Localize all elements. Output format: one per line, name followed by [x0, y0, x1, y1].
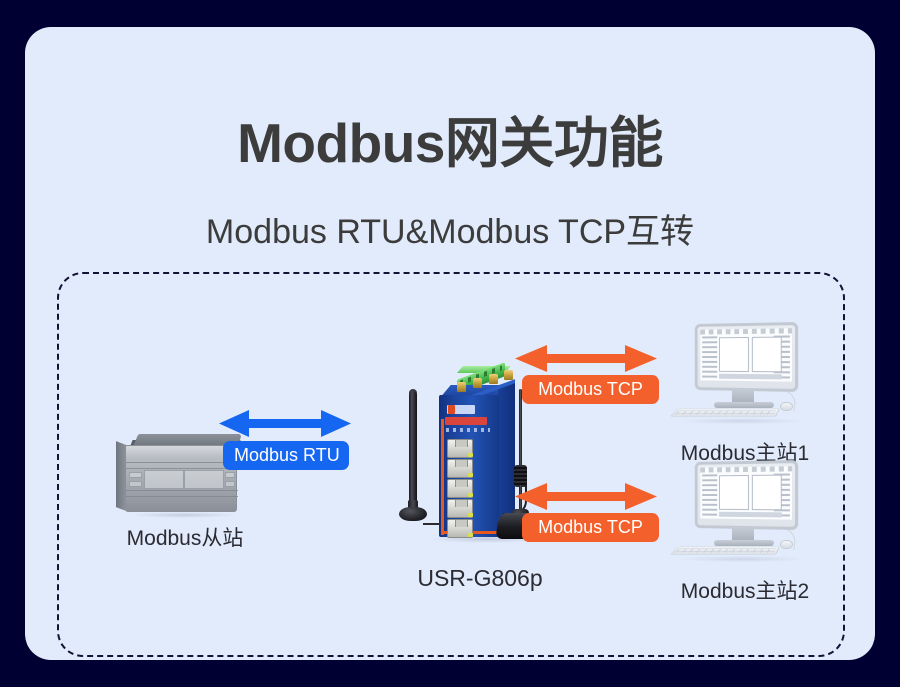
plc-front-face: [125, 445, 237, 512]
monitor-2-stand: [732, 527, 754, 541]
page-subtitle: Modbus RTU&Modbus TCP互转: [25, 204, 875, 253]
monitor-2-base: [714, 540, 774, 546]
right-antenna-rod: [519, 389, 522, 469]
monitor-1-base: [714, 402, 774, 408]
gateway-label: USR-G806p: [355, 565, 605, 592]
monitor-2-shadow: [680, 556, 804, 562]
keyboard-2: [670, 547, 780, 555]
router-led-row: [446, 428, 490, 432]
monitor-1-screen-content: [700, 328, 792, 381]
content-card: Modbus网关功能 Modbus RTU&Modbus TCP互转: [25, 27, 875, 660]
port-led-3: [468, 493, 473, 497]
monitor-1-stand: [732, 389, 754, 403]
plc-face-detail: [126, 446, 238, 513]
tcp-arrow-1-icon: [515, 342, 657, 376]
modbus-master-2-device: [670, 461, 816, 561]
port-led-2: [468, 473, 473, 477]
sma-connector-3: [489, 374, 498, 384]
port-led-1: [468, 453, 473, 457]
monitor-1: [695, 322, 798, 392]
router-accent-stripe: [441, 419, 444, 535]
monitor-2-screen-content: [700, 466, 792, 519]
badge-modbus-tcp-2: Modbus TCP: [522, 513, 659, 542]
monitor-1-shadow: [680, 418, 804, 424]
left-antenna-rod: [409, 391, 417, 511]
page-root: Modbus网关功能 Modbus RTU&Modbus TCP互转: [0, 0, 900, 687]
badge-modbus-rtu: Modbus RTU: [223, 441, 349, 470]
sma-connector-1: [457, 382, 466, 392]
badge-modbus-tcp-1: Modbus TCP: [522, 375, 659, 404]
port-led-5: [468, 533, 473, 537]
modbus-slave-label: Modbus从站: [65, 522, 305, 552]
router-brand-mark: [448, 405, 455, 414]
port-led-4: [468, 513, 473, 517]
sma-connector-2: [473, 378, 482, 388]
mouse-1: [780, 402, 793, 411]
plc-shadow: [129, 512, 239, 518]
router-model-label: [445, 417, 487, 425]
keyboard-1: [670, 409, 780, 417]
sma-connector-4: [504, 370, 513, 380]
modbus-master-2-label: Modbus主站2: [645, 575, 845, 605]
page-title: Modbus网关功能: [25, 115, 875, 173]
tcp-arrow-2-icon: [515, 480, 657, 514]
modbus-master-1-device: [670, 323, 816, 423]
rtu-arrow-icon: [219, 407, 351, 441]
mouse-2: [780, 540, 793, 549]
monitor-2: [695, 460, 798, 530]
